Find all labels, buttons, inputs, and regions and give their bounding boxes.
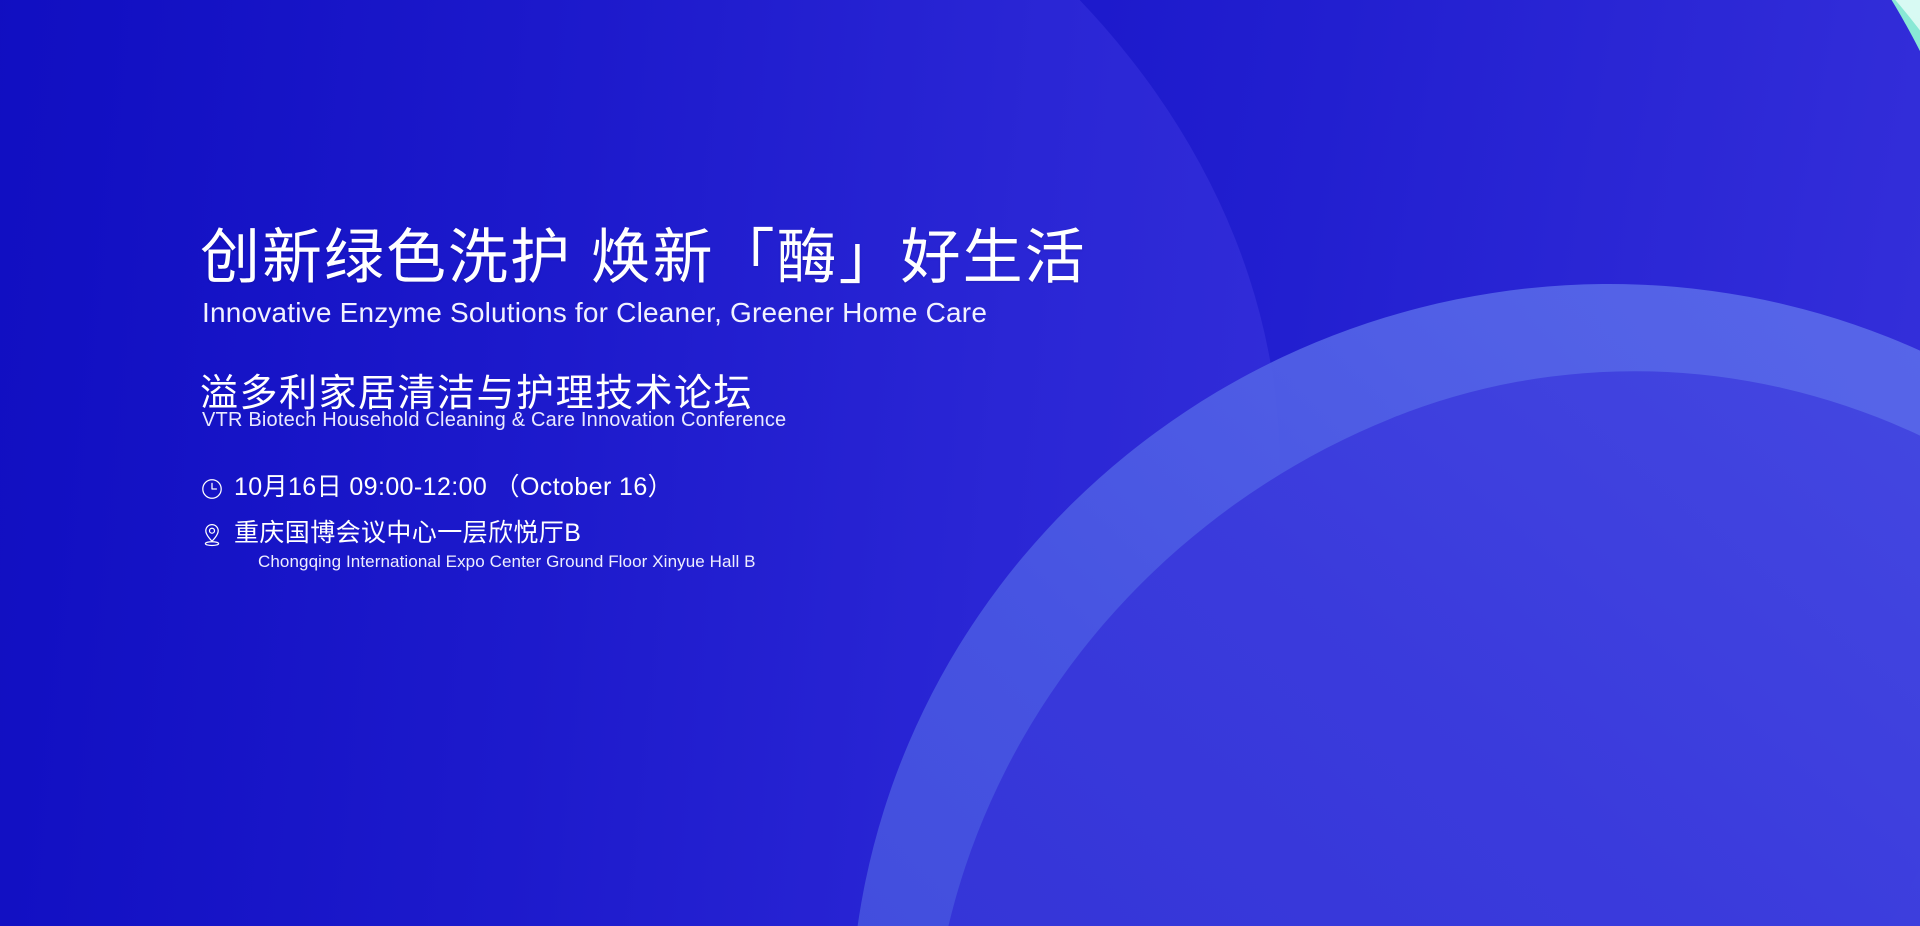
event-time-text: 10月16日 09:00-12:00 （October 16）: [234, 472, 1020, 503]
event-venue-chinese: 重庆国博会议中心一层欣悦厅B: [234, 518, 1020, 549]
headline-english: Innovative Enzyme Solutions for Cleaner,…: [202, 297, 987, 329]
location-pin-icon: [200, 520, 234, 550]
clock-icon: [200, 474, 234, 504]
event-venue-english: Chongqing International Expo Center Grou…: [234, 549, 1020, 575]
conference-banner: 创新绿色洗护 焕新「酶」好生活 Innovative Enzyme Soluti…: [0, 0, 1920, 926]
folded-towel: [1206, 207, 1717, 848]
event-detail-time: 10月16日 09:00-12:00 （October 16）: [200, 472, 1020, 504]
event-detail-venue: 重庆国博会议中心一层欣悦厅B Chongqing International E…: [200, 518, 1020, 574]
banner-content: 创新绿色洗护 焕新「酶」好生活 Innovative Enzyme Soluti…: [200, 0, 1060, 926]
headline-chinese: 创新绿色洗护 焕新「酶」好生活: [200, 224, 1087, 291]
subtitle-english: VTR Biotech Household Cleaning & Care In…: [202, 409, 786, 432]
photo-person: [1284, 74, 1920, 926]
event-details: 10月16日 09:00-12:00 （October 16） 重庆国博会议中心…: [200, 472, 1020, 588]
